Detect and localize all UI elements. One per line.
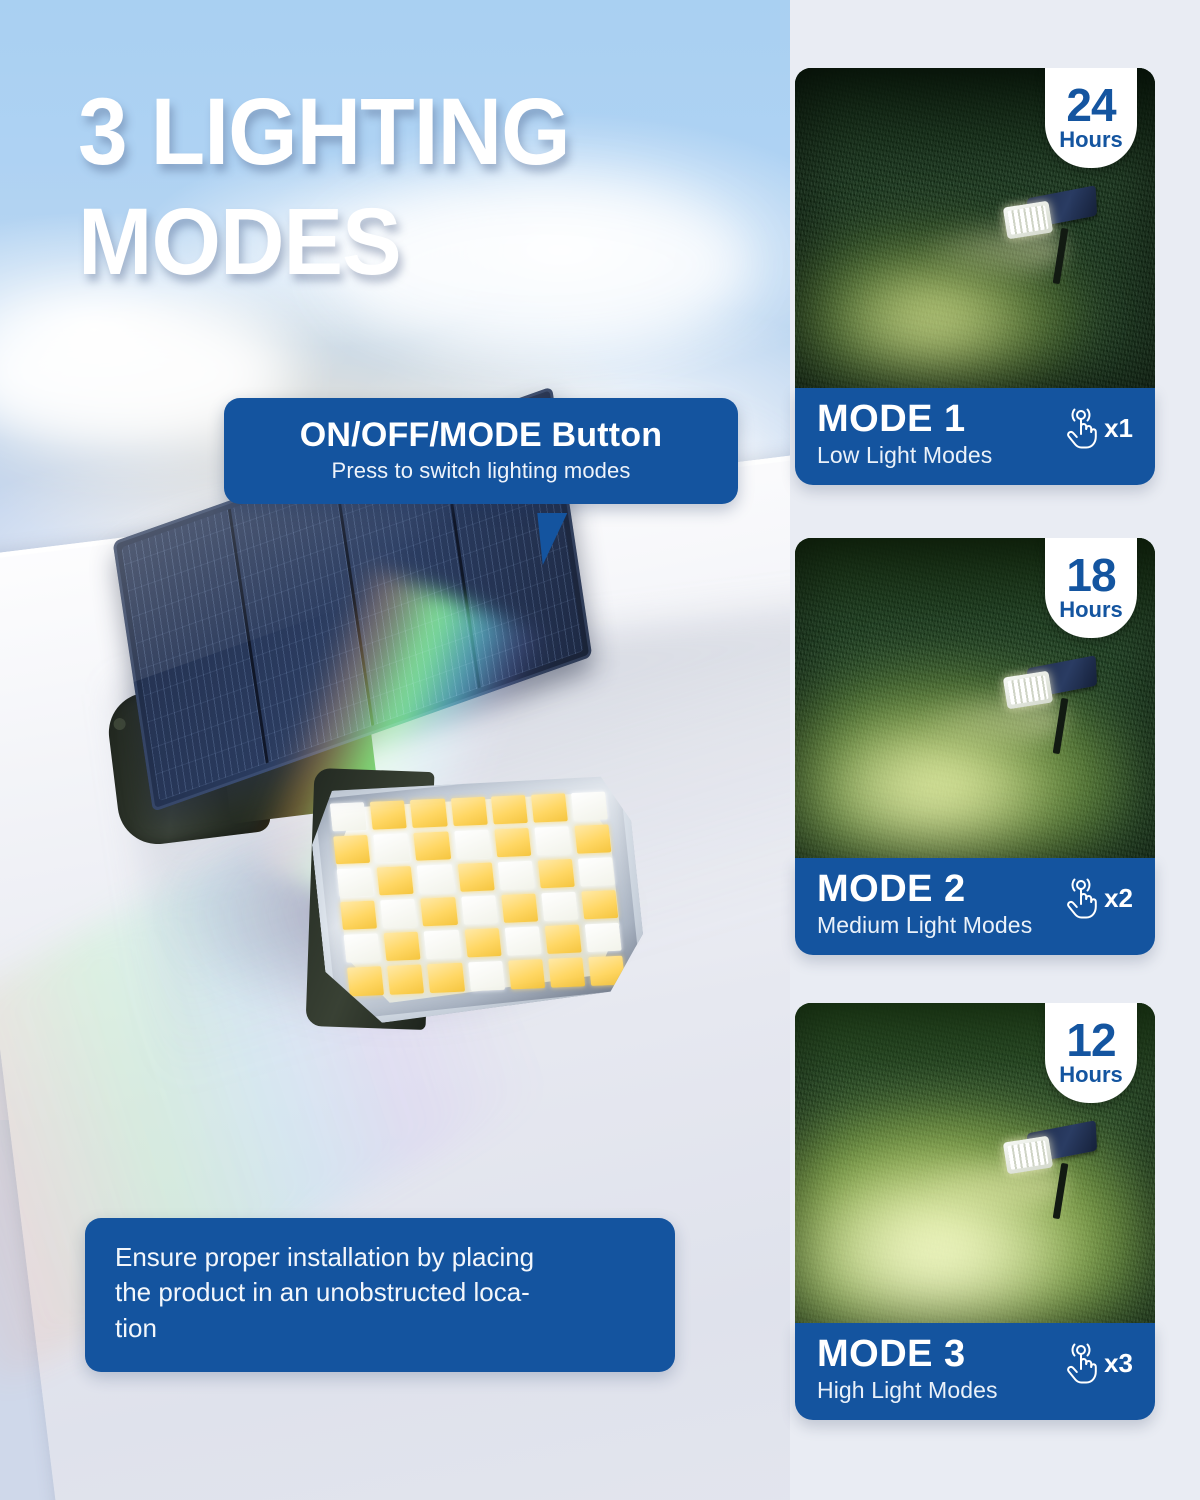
mode-card-list: 24 Hours MODE 1 Low Light Modes [795, 0, 1200, 1500]
mode-label-texts: MODE 1 Low Light Modes [817, 400, 1059, 469]
press-indicator: x1 [1059, 400, 1133, 450]
hours-badge-number: 12 [1066, 1019, 1115, 1063]
mode-label-texts: MODE 3 High Light Modes [817, 1335, 1059, 1404]
mode-subtitle: High Light Modes [817, 1377, 1059, 1405]
mode-photo: 24 Hours [795, 68, 1155, 388]
product-scene: 3 LIGHTING MODES ON/OFF/MODE Button Pres… [0, 0, 790, 1500]
mode-label-texts: MODE 2 Medium Light Modes [817, 870, 1059, 939]
mode-subtitle: Low Light Modes [817, 442, 1059, 470]
led-head-body [307, 760, 650, 1028]
callout-pointer [537, 513, 588, 565]
press-count: x3 [1104, 1348, 1133, 1379]
hours-badge: 18 Hours [1045, 538, 1137, 638]
mode-label-bar: MODE 3 High Light Modes [795, 1323, 1155, 1420]
mode-title: MODE 3 [817, 1335, 1059, 1375]
mode-card[interactable]: 18 Hours MODE 2 Medium Light Modes [795, 538, 1155, 955]
button-callout: ON/OFF/MODE Button Press to switch light… [224, 398, 738, 504]
press-indicator: x2 [1059, 870, 1133, 920]
mode-title: MODE 2 [817, 870, 1059, 910]
note-line-3: tion [115, 1311, 645, 1346]
tap-hand-icon [1059, 876, 1101, 920]
note-line-2: the product in an unobstructed loca- [115, 1275, 645, 1310]
headline-line-2: MODES [78, 196, 680, 288]
mode-card[interactable]: 12 Hours MODE 3 High Light Modes [795, 1003, 1155, 1420]
solar-wall-light [105, 548, 715, 1048]
installation-note: Ensure proper installation by placing th… [85, 1218, 675, 1372]
mode-card[interactable]: 24 Hours MODE 1 Low Light Modes [795, 68, 1155, 485]
led-head-rim [307, 760, 650, 1028]
mode-subtitle: Medium Light Modes [817, 912, 1059, 940]
hours-badge-unit: Hours [1059, 127, 1123, 152]
hours-badge: 12 Hours [1045, 1003, 1137, 1103]
hours-badge-number: 24 [1066, 84, 1115, 128]
callout-subtitle: Press to switch lighting modes [248, 458, 714, 484]
mode-label-bar: MODE 2 Medium Light Modes [795, 858, 1155, 955]
tap-hand-icon [1059, 406, 1101, 450]
hours-badge-unit: Hours [1059, 597, 1123, 622]
infographic-stage: 3 LIGHTING MODES ON/OFF/MODE Button Pres… [0, 0, 1200, 1500]
callout-title: ON/OFF/MODE Button [248, 416, 714, 454]
hours-badge: 24 Hours [1045, 68, 1137, 168]
note-line-1: Ensure proper installation by placing [115, 1240, 645, 1275]
page-title: 3 LIGHTING MODES [78, 86, 718, 288]
press-indicator: x3 [1059, 1335, 1133, 1385]
mode-photo: 18 Hours [795, 538, 1155, 858]
hours-badge-number: 18 [1066, 554, 1115, 598]
hours-badge-unit: Hours [1059, 1062, 1123, 1087]
led-head [307, 760, 650, 1028]
headline-line-1: 3 LIGHTING [78, 86, 680, 178]
tap-hand-icon [1059, 1341, 1101, 1385]
press-count: x2 [1104, 883, 1133, 914]
mode-photo: 12 Hours [795, 1003, 1155, 1323]
mode-title: MODE 1 [817, 400, 1059, 440]
press-count: x1 [1104, 413, 1133, 444]
mode-label-bar: MODE 1 Low Light Modes x [795, 388, 1155, 485]
